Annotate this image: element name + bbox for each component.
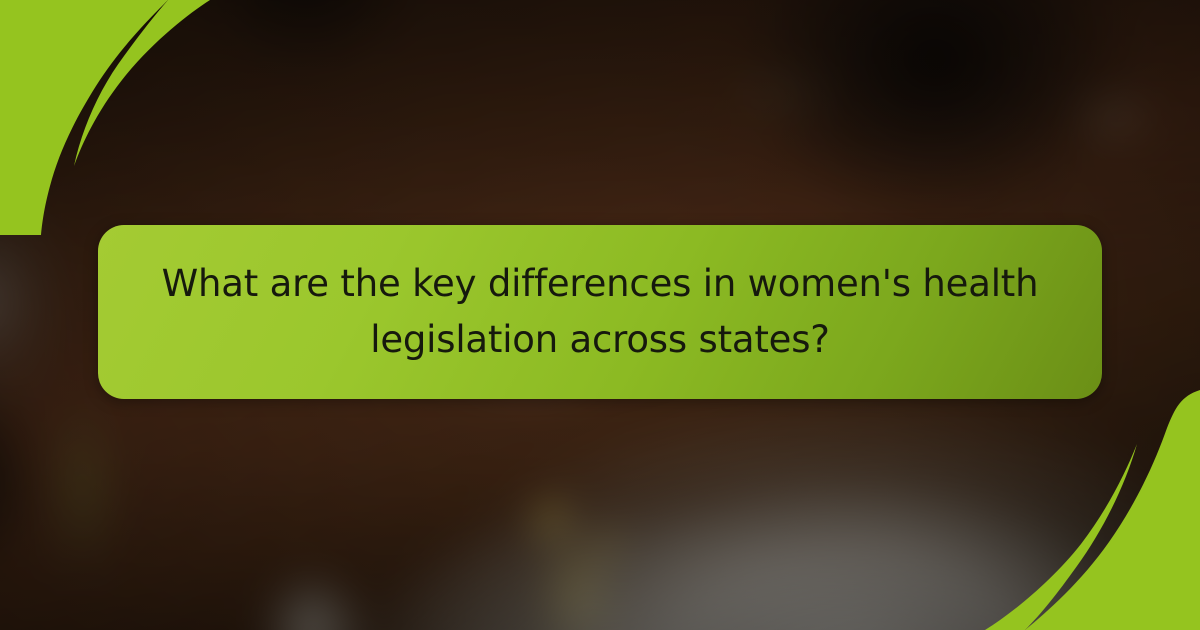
- leaf-swoosh-bottom-right-icon: [985, 390, 1200, 630]
- leaf-swoosh-top-left-icon: [0, 0, 210, 235]
- slide-canvas: What are the key differences in women's …: [0, 0, 1200, 630]
- question-card: What are the key differences in women's …: [98, 225, 1102, 399]
- question-text: What are the key differences in women's …: [152, 256, 1048, 368]
